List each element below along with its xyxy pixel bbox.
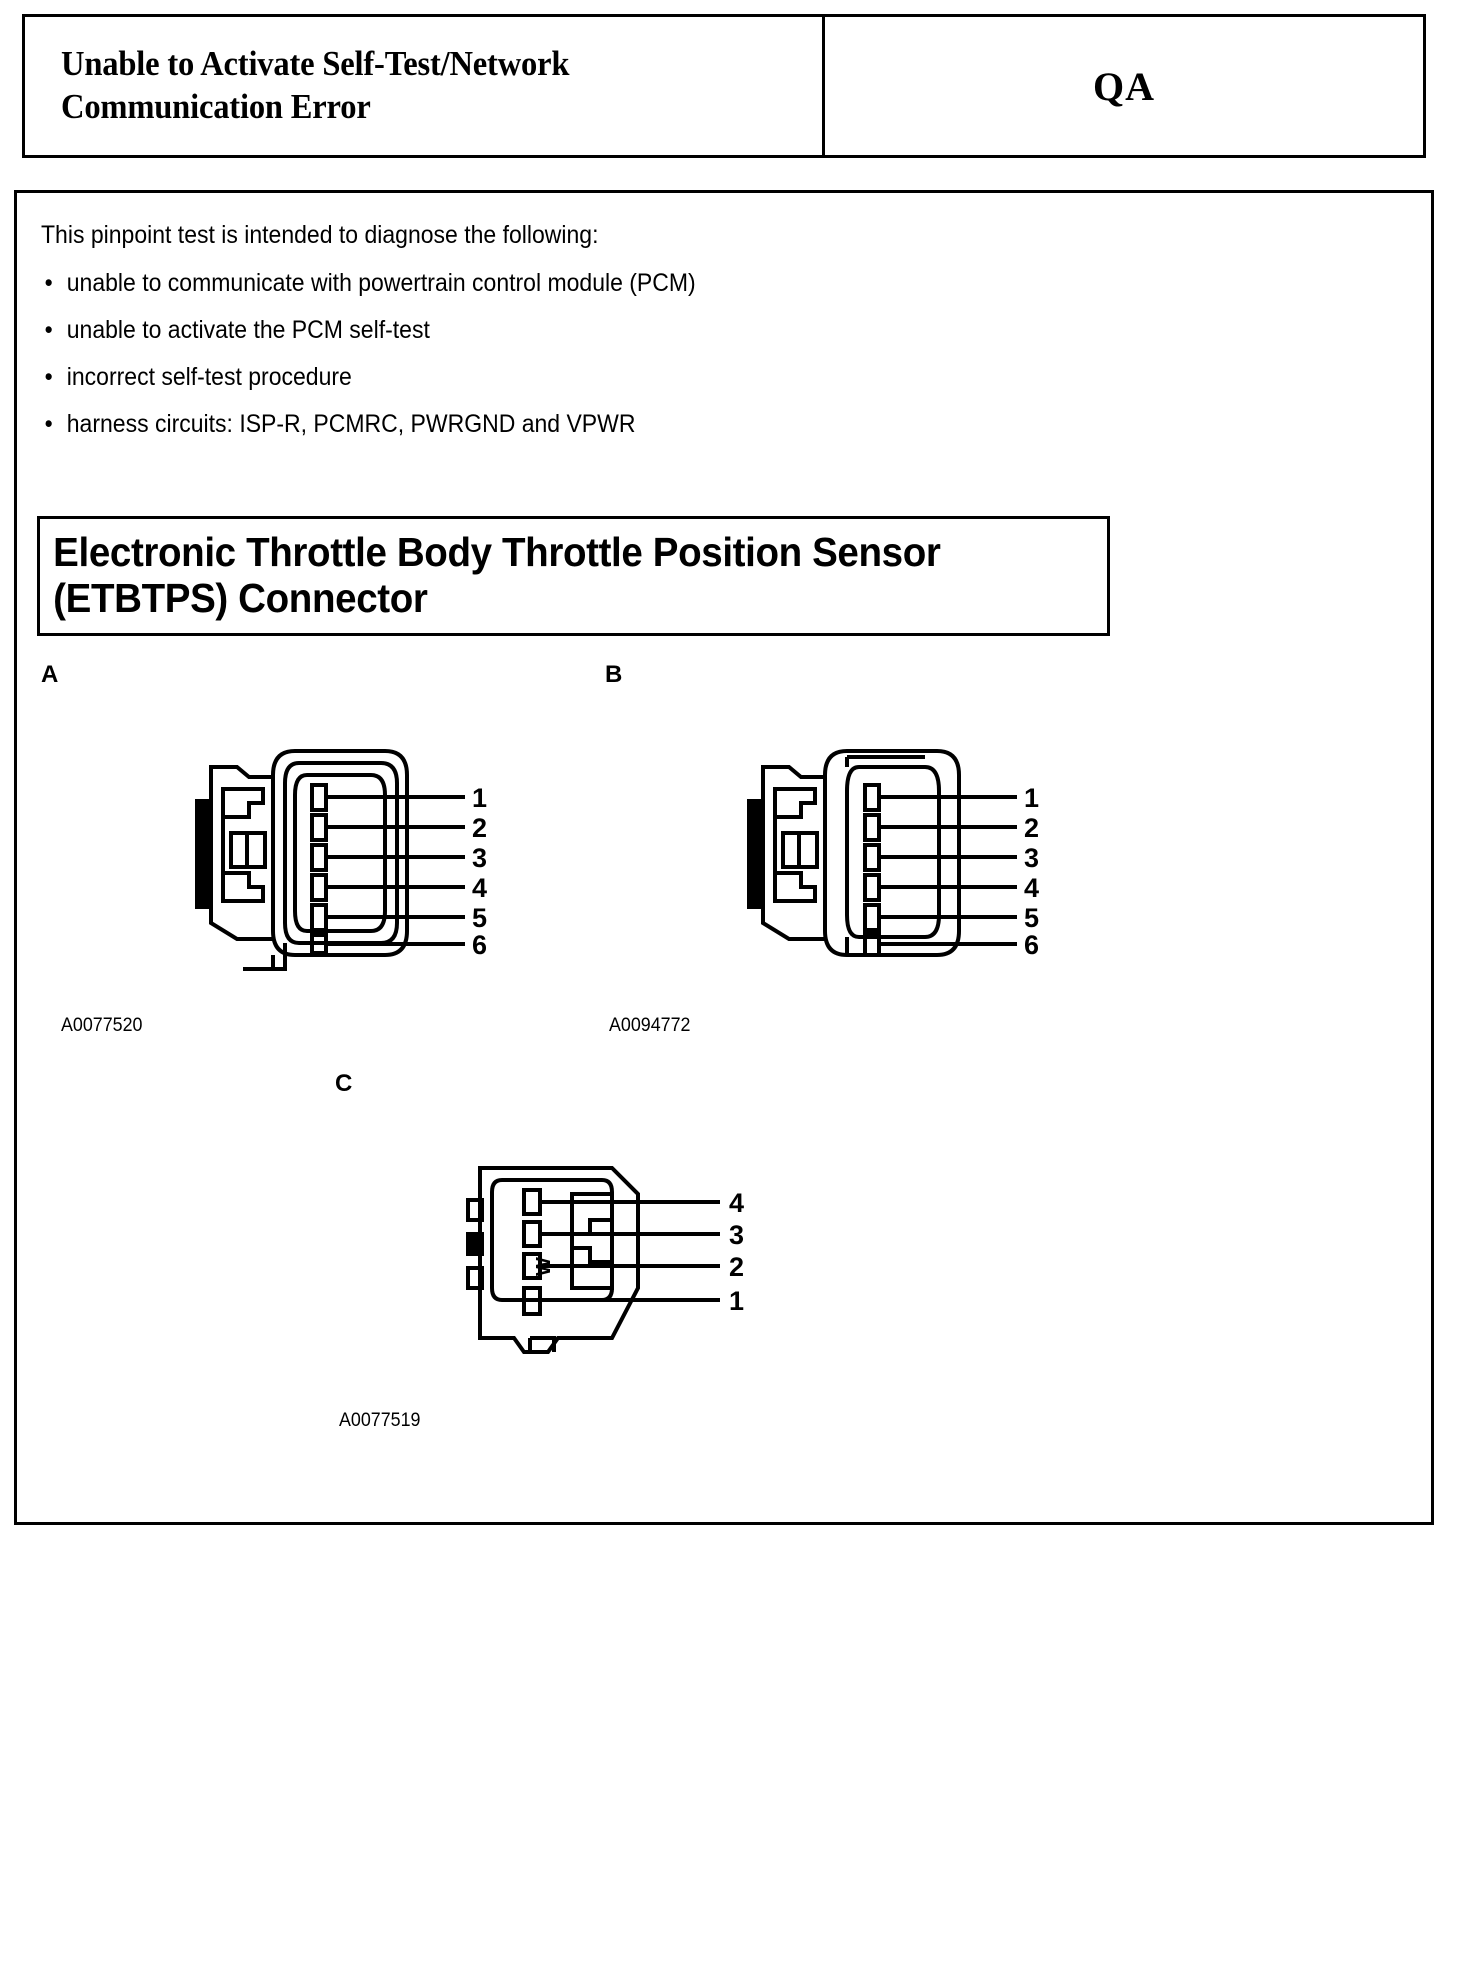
list-item-label: unable to activate the PCM self-test [67,316,430,344]
figure-caption-c: A0077519 [339,1410,420,1432]
list-item: • unable to activate the PCM self-test [41,316,1053,345]
connector-a-svg [177,733,467,973]
bullet-marker-icon: • [45,363,53,392]
connector-b-seal [747,799,761,909]
connector-c-svg [462,1138,722,1368]
list-item-label: harness circuits: ISP-R, PCMRC, PWRGND a… [67,410,636,438]
pin-label: 1 [1024,783,1039,814]
figure-letter-b: B [605,661,622,689]
figure-caption-a: A0077520 [61,1015,142,1037]
bullet-marker-icon: • [45,316,53,345]
pin-label: 4 [1024,873,1039,904]
bullet-marker-icon: • [45,269,53,298]
connector-a-pin-labels: 1 2 3 4 5 6 [472,733,532,973]
bullet-marker-icon: • [45,410,53,439]
connector-c-pin-labels: 4 3 2 1 [729,1138,789,1368]
connector-diagram-a [177,733,467,973]
list-item: • incorrect self-test procedure [41,363,1053,392]
figure-letter-c: C [335,1070,352,1098]
section-heading: Electronic Throttle Body Throttle Positi… [40,530,1043,622]
connector-c-side-label: W [533,1257,556,1276]
pin-label: 4 [729,1188,744,1219]
page-title: Unable to Activate Self-Test/Network Com… [61,43,769,128]
intro-text: This pinpoint test is intended to diagno… [41,221,598,250]
pin-label: 2 [472,813,487,844]
list-item-label: incorrect self-test procedure [67,363,352,391]
page-header: Unable to Activate Self-Test/Network Com… [22,14,1426,158]
header-code-cell: QA [825,17,1423,155]
header-title-cell: Unable to Activate Self-Test/Network Com… [25,17,825,155]
document-page: Unable to Activate Self-Test/Network Com… [0,0,1472,1964]
pin-label: 6 [1024,930,1039,961]
section-heading-box: Electronic Throttle Body Throttle Positi… [37,516,1110,636]
connector-b-svg [729,733,1019,973]
pin-label: 2 [729,1252,744,1283]
list-item-label: unable to communicate with powertrain co… [67,269,696,297]
figure-caption-b: A0094772 [609,1015,690,1037]
content-panel: This pinpoint test is intended to diagno… [14,190,1434,1525]
pin-label: 3 [1024,843,1039,874]
list-item: • unable to communicate with powertrain … [41,269,1053,298]
diagnosis-list: • unable to communicate with powertrain … [41,269,1141,457]
connector-a-seal [195,799,209,909]
figure-letter-a: A [41,661,58,689]
connector-diagram-c [462,1138,722,1368]
connector-c-keyway [466,1232,484,1256]
pin-label: 3 [729,1220,744,1251]
connector-diagram-b [729,733,1019,973]
pin-label: 2 [1024,813,1039,844]
pin-label: 3 [472,843,487,874]
pin-label: 6 [472,930,487,961]
pin-label: 1 [472,783,487,814]
list-item: • harness circuits: ISP-R, PCMRC, PWRGND… [41,410,1053,439]
test-code-badge: QA [1093,63,1155,110]
pin-label: 1 [729,1286,744,1317]
pin-label: 4 [472,873,487,904]
connector-b-pin-labels: 1 2 3 4 5 6 [1024,733,1084,973]
